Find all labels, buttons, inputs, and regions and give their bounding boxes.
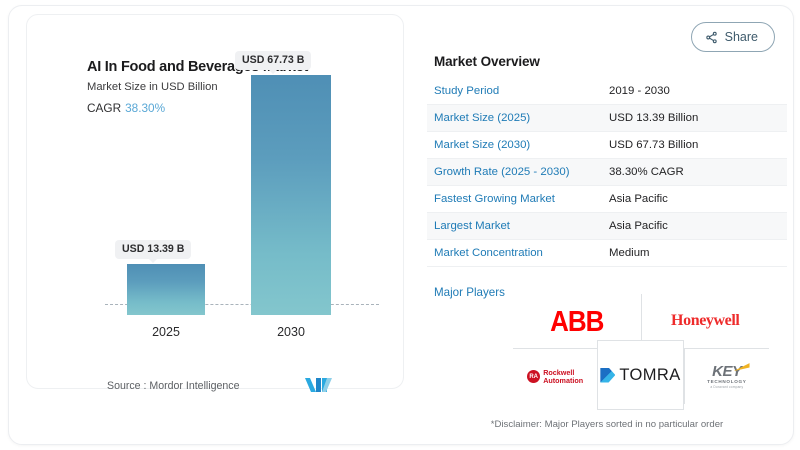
row-value: 38.30% CAGR — [609, 166, 684, 178]
tomra-mark-icon — [600, 368, 615, 383]
row-value: 2019 - 2030 — [609, 85, 670, 97]
table-row: Fastest Growing Market Asia Pacific — [427, 186, 787, 213]
row-key: Largest Market — [434, 220, 609, 232]
bar-2025[interactable] — [127, 264, 205, 315]
tomra-wordmark: TOMRA — [619, 366, 680, 385]
table-row: Growth Rate (2025 - 2030) 38.30% CAGR — [427, 159, 787, 186]
major-players-row-bottom: RA Rockwell Automation TOMRA — [513, 348, 769, 404]
row-value: Medium — [609, 247, 650, 259]
row-key: Market Size (2030) — [434, 139, 609, 151]
table-row: Market Concentration Medium — [427, 240, 787, 267]
chart-plot-area: USD 13.39 B USD 67.73 B 2025 2030 — [87, 115, 387, 355]
bar-label-2025: USD 13.39 B — [115, 240, 191, 259]
table-row: Market Size (2025) USD 13.39 Billion — [427, 105, 787, 132]
row-key: Fastest Growing Market — [434, 193, 609, 205]
rockwell-mark: RA — [527, 370, 540, 383]
key-subtext: TECHNOLOGY — [707, 380, 746, 385]
row-key: Market Size (2025) — [434, 112, 609, 124]
bar-2030[interactable] — [251, 75, 331, 315]
cagr-label: CAGR — [87, 101, 121, 115]
key-subtext-2: a Duravant company — [707, 386, 746, 389]
screenshot-root: Share AI In Food and Beverages Market Ma… — [0, 0, 800, 450]
row-value: Asia Pacific — [609, 220, 668, 232]
row-key: Study Period — [434, 85, 609, 97]
row-value: USD 13.39 Billion — [609, 112, 698, 124]
chart-source: Source : Mordor Intelligence — [107, 380, 240, 392]
tomra-logo: TOMRA — [600, 366, 680, 385]
major-players-grid: ABB Honeywell RA Rockwell Automation — [513, 294, 769, 404]
chart-cagr: CAGR38.30% — [87, 101, 165, 115]
key-wordmark: KEY — [707, 364, 746, 379]
player-cell-rockwell: RA Rockwell Automation — [513, 349, 597, 404]
rockwell-automation-logo: RA Rockwell Automation — [527, 369, 583, 385]
row-key: Growth Rate (2025 - 2030) — [434, 166, 609, 178]
mordor-intelligence-logo — [305, 376, 333, 394]
table-row: Market Size (2030) USD 67.73 Billion — [427, 132, 787, 159]
player-cell-tomra: TOMRA — [597, 340, 683, 410]
major-players-disclaimer: *Disclaimer: Major Players sorted in no … — [427, 419, 787, 430]
row-key: Market Concentration — [434, 247, 609, 259]
row-value: USD 67.73 Billion — [609, 139, 698, 151]
bar-label-2030: USD 67.73 B — [235, 51, 311, 70]
major-players-title: Major Players — [434, 286, 505, 299]
table-row: Study Period 2019 - 2030 — [427, 78, 787, 105]
cagr-value: 38.30% — [125, 101, 165, 115]
chart-panel: AI In Food and Beverages Market Market S… — [26, 14, 404, 389]
honeywell-logo: Honeywell — [671, 312, 739, 330]
overview-table: Study Period 2019 - 2030 Market Size (20… — [427, 78, 787, 267]
report-card: Share AI In Food and Beverages Market Ma… — [8, 5, 794, 445]
key-technology-logo: KEY TECHNOLOGY a Duravant company — [707, 364, 746, 389]
row-value: Asia Pacific — [609, 193, 668, 205]
x-tick-2025: 2025 — [126, 325, 206, 339]
overview-title: Market Overview — [434, 54, 540, 69]
table-row: Largest Market Asia Pacific — [427, 213, 787, 240]
market-overview-panel: Market Overview Study Period 2019 - 2030… — [427, 14, 787, 445]
rockwell-line-2: Automation — [543, 377, 583, 385]
abb-logo: ABB — [550, 304, 603, 339]
x-tick-2030: 2030 — [251, 325, 331, 339]
player-cell-key-technology: KEY TECHNOLOGY a Duravant company — [684, 349, 769, 404]
chart-subtitle: Market Size in USD Billion — [87, 81, 218, 93]
